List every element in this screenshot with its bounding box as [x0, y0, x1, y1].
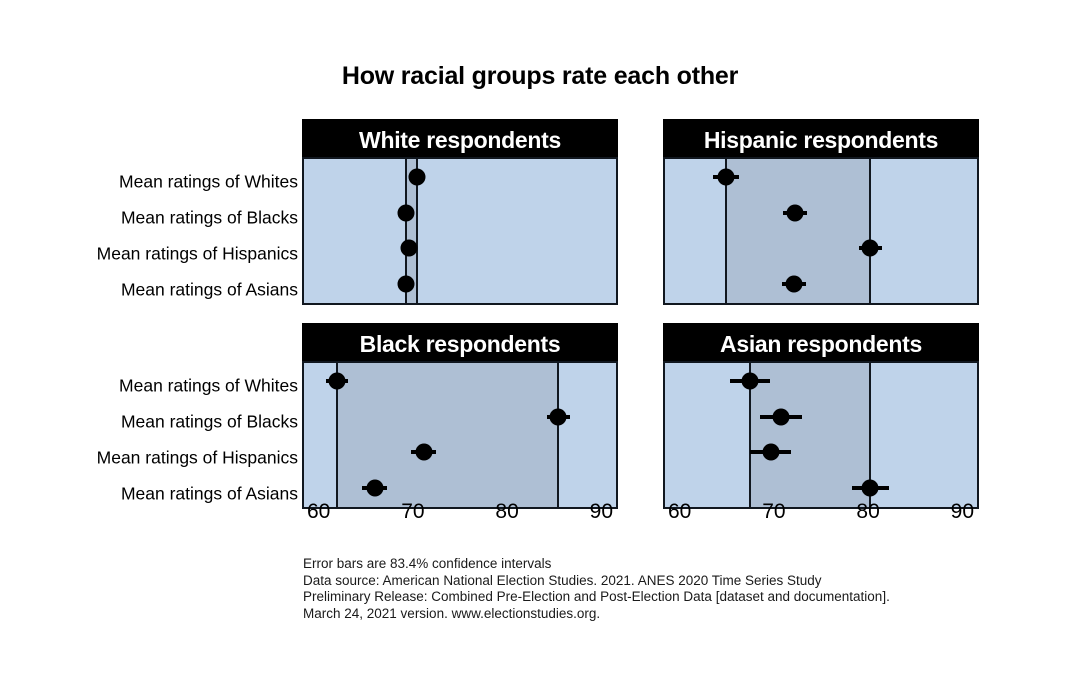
x-axis-tick-label: 60 — [307, 500, 330, 524]
panel-strip-title: Hispanic respondents — [663, 119, 979, 157]
data-point — [366, 480, 383, 497]
data-point — [397, 276, 414, 293]
y-axis-labels-top: Mean ratings of WhitesMean ratings of Bl… — [0, 162, 298, 310]
x-axis-tick-label: 70 — [762, 500, 785, 524]
data-point — [741, 372, 758, 389]
panel-black-respondents: Black respondents — [302, 323, 618, 509]
x-axis-right: 60708090 — [663, 500, 979, 526]
footnote: Error bars are 83.4% confidence interval… — [303, 556, 1003, 622]
page-title: How racial groups rate each other — [0, 62, 1080, 91]
panel-plot-area — [302, 361, 618, 509]
data-point — [786, 276, 803, 293]
y-axis-labels-bottom: Mean ratings of WhitesMean ratings of Bl… — [0, 366, 298, 514]
x-axis-tick-label: 80 — [495, 500, 518, 524]
reference-line-max — [557, 363, 559, 507]
data-point — [862, 480, 879, 497]
y-axis-label: Mean ratings of Asians — [121, 483, 298, 504]
panel-asian-respondents: Asian respondents — [663, 323, 979, 509]
footnote-line-3: Preliminary Release: Combined Pre-Electi… — [303, 589, 1003, 606]
footnote-line-1: Error bars are 83.4% confidence interval… — [303, 556, 1003, 573]
x-axis-left: 60708090 — [302, 500, 618, 526]
panel-plot-area — [663, 157, 979, 305]
panel-plot-area — [663, 361, 979, 509]
data-point — [397, 204, 414, 221]
data-point — [787, 204, 804, 221]
x-axis-tick-label: 90 — [951, 500, 974, 524]
y-axis-label: Mean ratings of Hispanics — [97, 447, 298, 468]
data-point — [550, 408, 567, 425]
chart-figure: How racial groups rate each other Mean r… — [0, 0, 1080, 688]
data-point — [862, 240, 879, 257]
data-point — [772, 408, 789, 425]
x-axis-tick-label: 80 — [856, 500, 879, 524]
data-point — [400, 240, 417, 257]
data-point — [409, 168, 426, 185]
data-point — [762, 444, 779, 461]
panel-plot-area — [302, 157, 618, 305]
panel-white-respondents: White respondents — [302, 119, 618, 305]
footnote-line-4: March 24, 2021 version. www.electionstud… — [303, 606, 1003, 623]
y-axis-label: Mean ratings of Asians — [121, 279, 298, 300]
data-point — [718, 168, 735, 185]
data-point — [328, 372, 345, 389]
reference-line-max — [869, 159, 871, 303]
y-axis-label: Mean ratings of Hispanics — [97, 243, 298, 264]
data-point — [415, 444, 432, 461]
panel-strip-title: Asian respondents — [663, 323, 979, 361]
panel-strip-title: White respondents — [302, 119, 618, 157]
x-axis-tick-label: 70 — [401, 500, 424, 524]
y-axis-label: Mean ratings of Blacks — [121, 412, 298, 433]
panel-hispanic-respondents: Hispanic respondents — [663, 119, 979, 305]
y-axis-label: Mean ratings of Blacks — [121, 208, 298, 229]
panel-strip-title: Black respondents — [302, 323, 618, 361]
footnote-line-2: Data source: American National Election … — [303, 573, 1003, 590]
x-axis-tick-label: 90 — [590, 500, 613, 524]
x-axis-tick-label: 60 — [668, 500, 691, 524]
y-axis-label: Mean ratings of Whites — [119, 376, 298, 397]
y-axis-label: Mean ratings of Whites — [119, 172, 298, 193]
